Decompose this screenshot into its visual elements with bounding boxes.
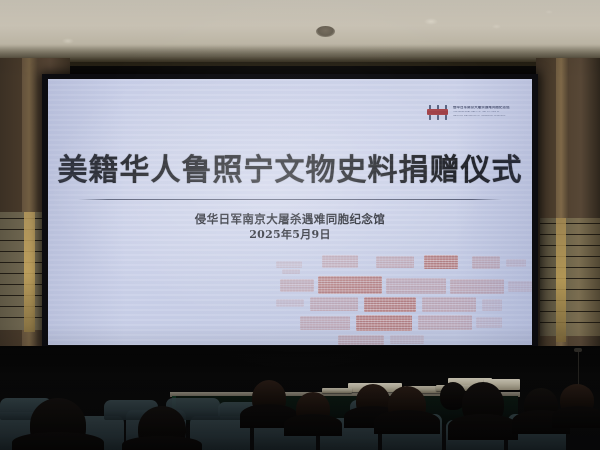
memorial-logo-text: 侵华日军南京大屠杀遇难同胞纪念馆 THE MEMORIAL HALL OF TH… [453,106,522,117]
logo-line-cn: 侵华日军南京大屠杀遇难同胞纪念馆 [453,106,522,110]
slide-date: 2025年5月9日 [48,228,532,242]
audience-person [448,414,518,440]
presentation-screen[interactable]: 侵华日军南京大屠杀遇难同胞纪念馆 THE MEMORIAL HALL OF TH… [48,79,532,345]
right-wall-light-strip [556,218,566,342]
ceiling-downlight [424,18,438,25]
ceiling-downlight [62,38,74,44]
left-wall-light-strip [24,212,35,332]
logo-line-en-2: NANJING MASSACRE BY JAPANESE INVADERS [453,115,522,117]
ceiling-downlight [316,26,335,37]
document-collage [276,247,532,345]
memorial-hall-logo: 侵华日军南京大屠杀遇难同胞纪念馆 THE MEMORIAL HALL OF TH… [426,99,522,125]
right-wall-slat-panel [540,218,600,336]
ceiling-downlight [545,10,553,14]
audience-person [284,414,342,436]
slide-subtitle: 侵华日军南京大屠杀遇难同胞纪念馆 [48,212,532,227]
audience-person [12,432,104,450]
slide-title: 美籍华人鲁照宁文物史料捐赠仪式 [48,153,532,189]
ceiling-downlight [492,24,501,29]
document-stack[interactable] [322,388,352,393]
title-divider [78,199,502,200]
memorial-logo-icon [426,105,449,120]
audience-person [552,406,600,428]
ceiling-shadow [0,44,600,66]
audience-person [374,410,440,434]
logo-line-en-1: THE MEMORIAL HALL OF THE VICTIMS IN [453,111,522,113]
audience-person [122,436,202,450]
auditorium-scene: 侵华日军南京大屠杀遇难同胞纪念馆 THE MEMORIAL HALL OF TH… [0,0,600,450]
